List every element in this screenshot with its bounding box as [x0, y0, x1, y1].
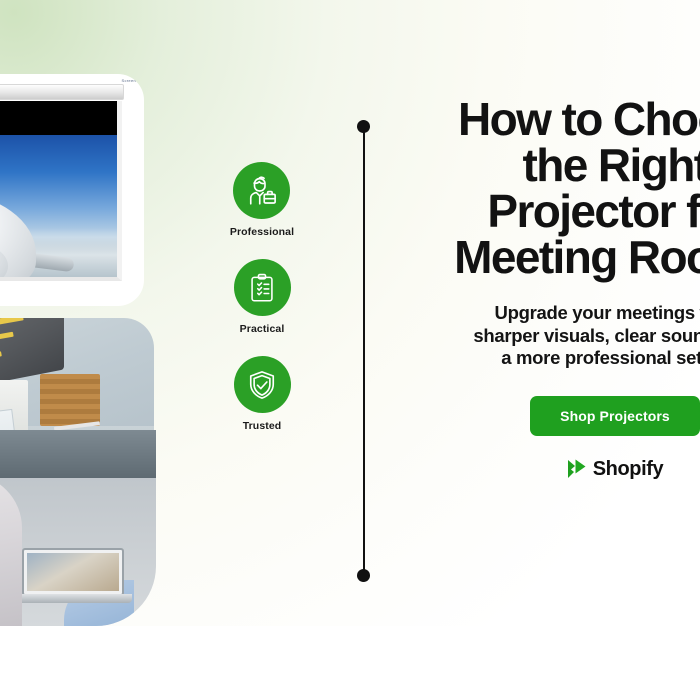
- feature-professional[interactable]: Professional: [230, 162, 294, 238]
- feature-label: Practical: [240, 323, 285, 335]
- feature-practical[interactable]: Practical: [234, 259, 291, 335]
- meeting-room-laptop-photo: [0, 430, 156, 626]
- headline-line-1: How to Choose: [400, 96, 700, 142]
- promo-content: How to Choose the Right Projector for Me…: [400, 96, 700, 481]
- subtitle-line-2: sharper visuals, clear sound, and: [400, 325, 700, 348]
- projector-housing: [0, 84, 124, 100]
- headline-line-3: Projector for: [400, 188, 700, 234]
- subtitle-line-3: a more professional setup.: [400, 347, 700, 370]
- laptop-device: [22, 548, 132, 610]
- page-title: How to Choose the Right Projector for Me…: [400, 96, 700, 280]
- room-wall: [0, 430, 156, 478]
- wood-panel-wall: [40, 374, 100, 426]
- play-arrow-logo-icon: [567, 458, 587, 480]
- subtitle-line-1: Upgrade your meetings with: [400, 302, 700, 325]
- laptop-screen-content: [27, 553, 119, 591]
- divider-dot-bottom: [357, 569, 370, 582]
- projector-brand-text: Screen: [122, 78, 136, 83]
- bottom-white-area: [0, 626, 700, 700]
- person-briefcase-icon: [233, 162, 290, 219]
- person-figure: [0, 474, 22, 626]
- cta-row: Shop Projectors: [400, 396, 700, 436]
- feature-list: Professional Practical: [216, 162, 308, 432]
- subtitle: Upgrade your meetings with sharper visua…: [400, 302, 700, 370]
- projector-screen-photo: Screen: [0, 74, 144, 306]
- feature-label: Professional: [230, 226, 294, 238]
- shield-check-icon: [234, 356, 291, 413]
- headline-line-2: the Right: [400, 142, 700, 188]
- feature-label: Trusted: [243, 420, 282, 432]
- banner-screenshot: Screen: [0, 0, 700, 700]
- headline-line-4: Meeting Rooms: [400, 234, 700, 280]
- laptop-keyboard-base: [16, 594, 132, 603]
- shop-projectors-button[interactable]: Shop Projectors: [530, 396, 700, 436]
- divider-line: [363, 126, 365, 576]
- projector-screen-surface: [0, 101, 122, 281]
- clipboard-checklist-icon: [234, 259, 291, 316]
- vertical-divider: [357, 120, 371, 582]
- feature-trusted[interactable]: Trusted: [234, 356, 291, 432]
- promo-banner: Screen: [0, 0, 700, 626]
- brand-lockup[interactable]: Shopify: [400, 458, 700, 481]
- laptop-lid: [22, 548, 124, 596]
- brand-name: Shopify: [593, 458, 664, 481]
